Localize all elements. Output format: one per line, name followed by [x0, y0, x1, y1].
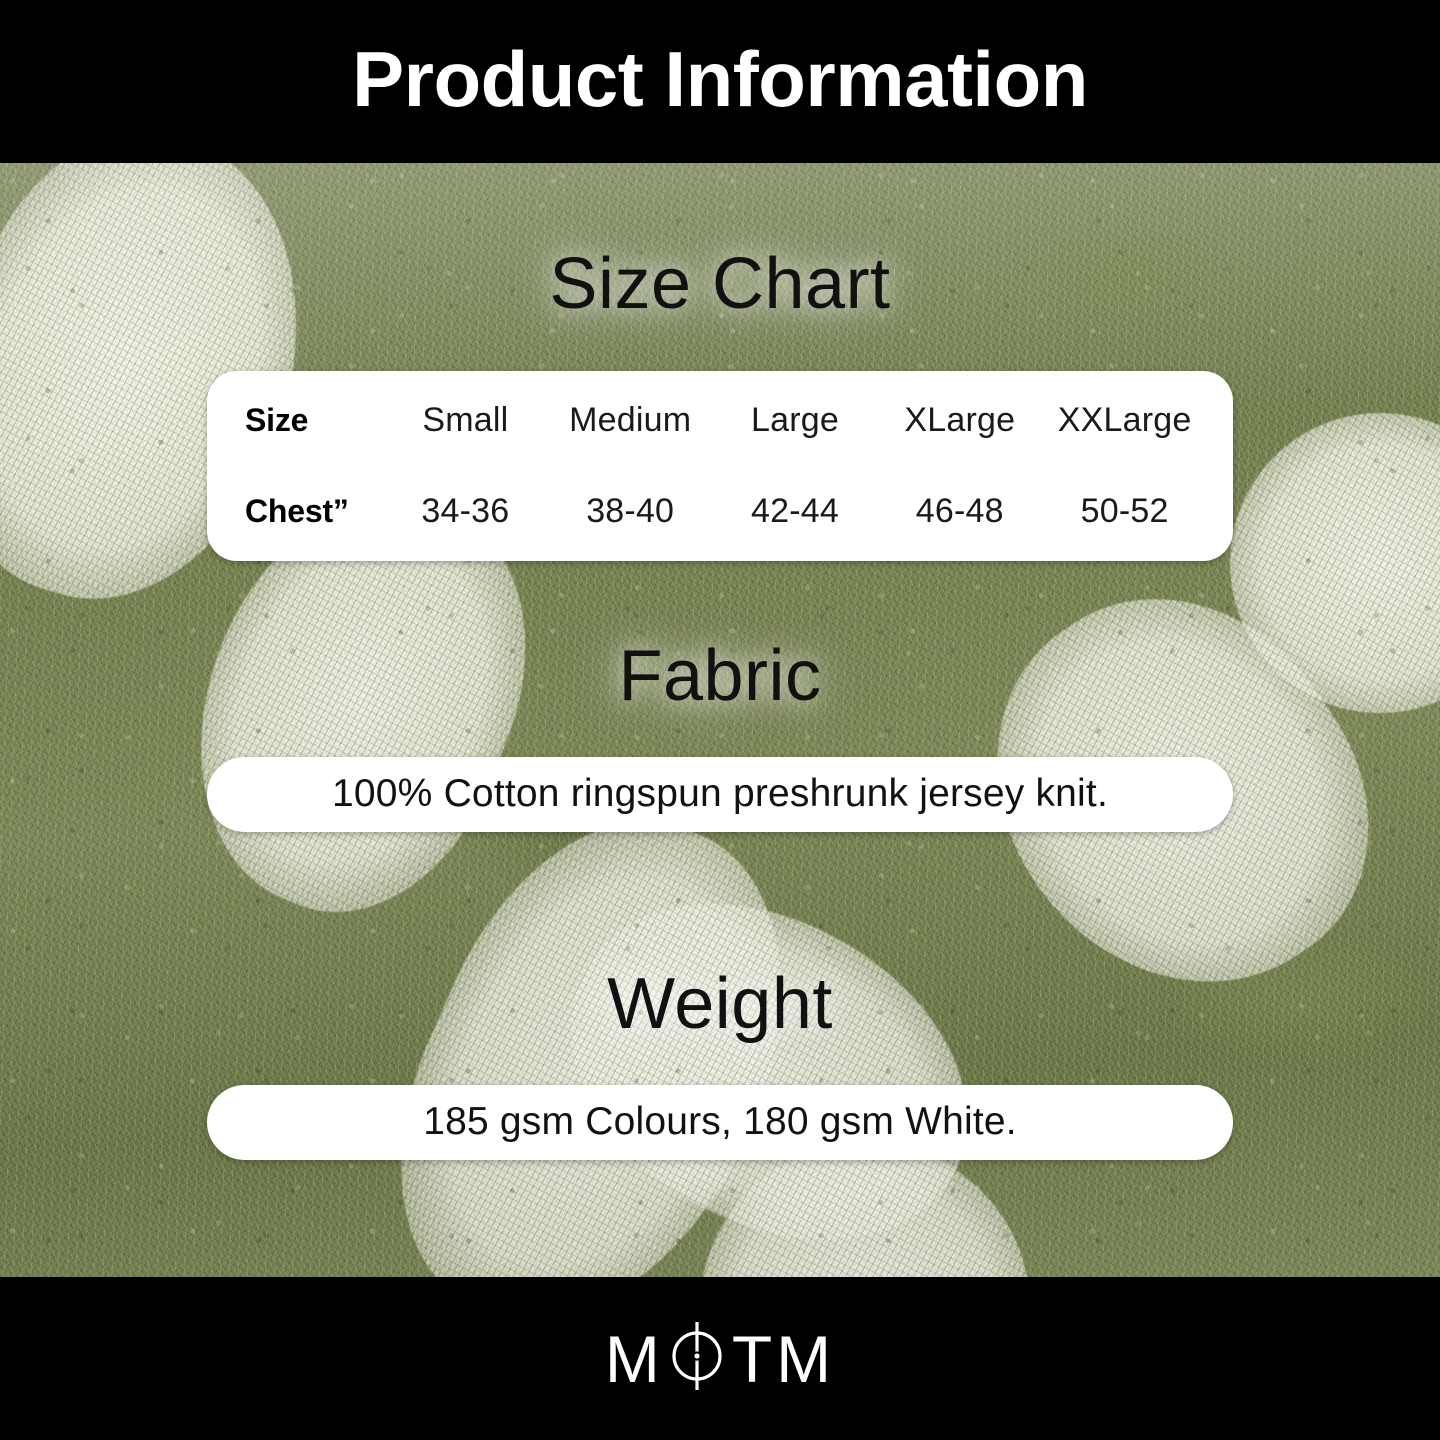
- header-band: Product Information: [0, 0, 1440, 163]
- chest-value-medium: 38-40: [548, 492, 713, 531]
- size-chart-card: Size Small Medium Large XLarge XXLarge C…: [207, 371, 1233, 561]
- page-title: Product Information: [352, 40, 1088, 124]
- size-column-large: Large: [713, 401, 878, 440]
- chest-value-xxlarge: 50-52: [1042, 492, 1207, 531]
- chest-value-xlarge: 46-48: [877, 492, 1042, 531]
- size-chart-chest-row: Chest” 34-36 38-40 42-44 46-48 50-52: [233, 492, 1207, 531]
- footer-band: M T M: [0, 1277, 1440, 1440]
- section-heading-size-chart: Size Chart: [0, 248, 1440, 320]
- chest-value-small: 34-36: [383, 492, 548, 531]
- size-column-xxlarge: XXLarge: [1042, 401, 1207, 440]
- fabric-info-pill: 100% Cotton ringspun preshrunk jersey kn…: [207, 757, 1233, 832]
- logo-letter-t: T: [732, 1326, 776, 1392]
- section-heading-fabric: Fabric: [0, 640, 1440, 712]
- chest-value-large: 42-44: [713, 492, 878, 531]
- weight-value-text: 185 gsm Colours, 180 gsm White.: [423, 1102, 1017, 1144]
- product-information-graphic: Product Information Size Chart Size Smal…: [0, 0, 1440, 1440]
- size-column-small: Small: [383, 401, 548, 440]
- size-chart-row-label-chest: Chest”: [233, 493, 383, 530]
- fabric-value-text: 100% Cotton ringspun preshrunk jersey kn…: [332, 774, 1108, 816]
- logo-letter-m-last: M: [776, 1326, 835, 1392]
- size-column-medium: Medium: [548, 401, 713, 440]
- size-chart-header-row: Size Small Medium Large XLarge XXLarge: [233, 401, 1207, 440]
- logo-letter-m-first: M: [605, 1326, 664, 1392]
- weight-info-pill: 185 gsm Colours, 180 gsm White.: [207, 1085, 1233, 1160]
- motm-logo: M T M: [605, 1320, 835, 1397]
- section-heading-weight: Weight: [0, 968, 1440, 1040]
- logo-circle-mark-icon: [666, 1320, 728, 1397]
- size-column-xlarge: XLarge: [877, 401, 1042, 440]
- size-chart-row-label-size: Size: [233, 402, 383, 439]
